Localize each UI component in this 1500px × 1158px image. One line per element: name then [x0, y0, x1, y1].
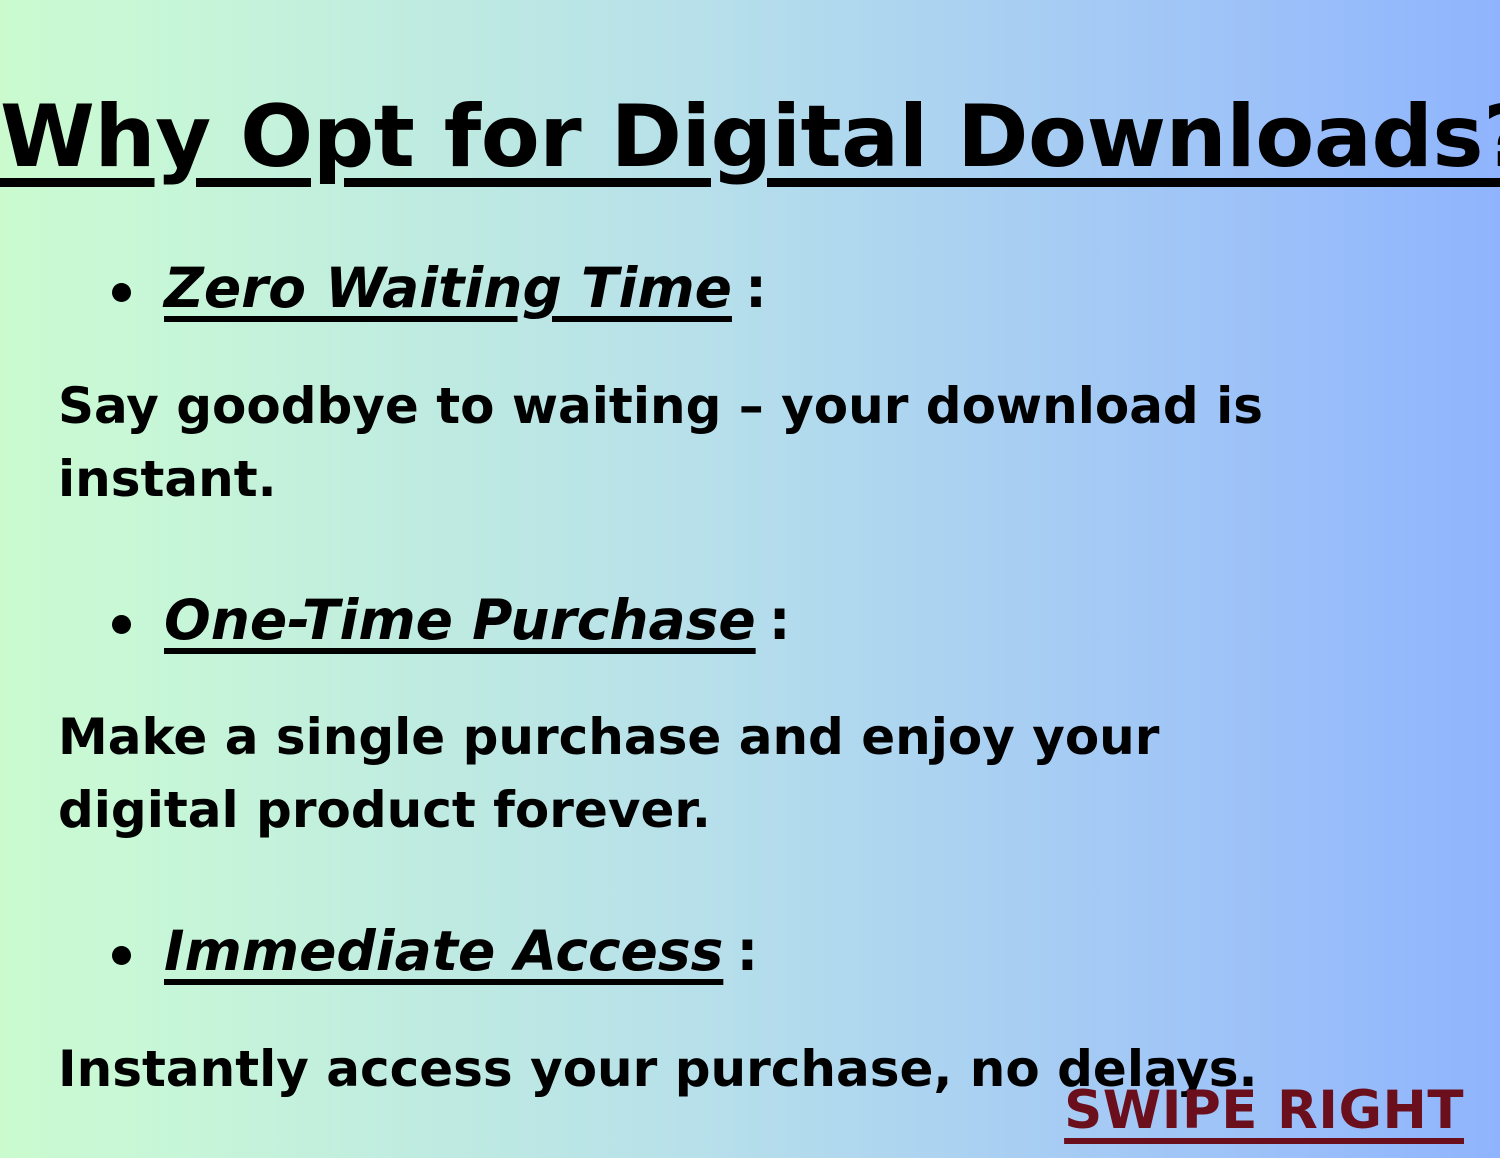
list-item-heading: Zero Waiting Time: [164, 258, 732, 320]
page-title-container: Why Opt for Digital Downloads?: [0, 34, 1500, 240]
page-title: Why Opt for Digital Downloads?: [0, 92, 1500, 182]
list-item-heading-row: Immediate Access :: [0, 921, 1500, 983]
list-item-body: Say goodbye to waiting – your download i…: [0, 370, 1408, 516]
list-item-separator: :: [769, 590, 791, 652]
list-item-heading-row: Zero Waiting Time :: [0, 258, 1500, 320]
list-item-heading: One-Time Purchase: [164, 590, 756, 652]
list-item-heading: Immediate Access: [164, 921, 723, 983]
bullet-dot-icon: [112, 615, 131, 634]
bullet-dot-icon: [112, 946, 131, 965]
swipe-right-cta[interactable]: SWIPE RIGHT: [1064, 1082, 1464, 1140]
list-item: Zero Waiting Time : Say goodbye to waiti…: [0, 258, 1500, 516]
list-item: One-Time Purchase : Make a single purcha…: [0, 590, 1500, 848]
list-item-body: Make a single purchase and enjoy your di…: [0, 701, 1408, 847]
bullet-dot-icon: [112, 283, 131, 302]
list-item-separator: :: [745, 258, 767, 320]
list-item-heading-row: One-Time Purchase :: [0, 590, 1500, 652]
list-item-separator: :: [736, 921, 758, 983]
list-item: Immediate Access : Instantly access your…: [0, 921, 1500, 1106]
benefits-list: Zero Waiting Time : Say goodbye to waiti…: [0, 258, 1500, 1156]
slide-canvas: Why Opt for Digital Downloads? Zero Wait…: [0, 0, 1500, 1158]
